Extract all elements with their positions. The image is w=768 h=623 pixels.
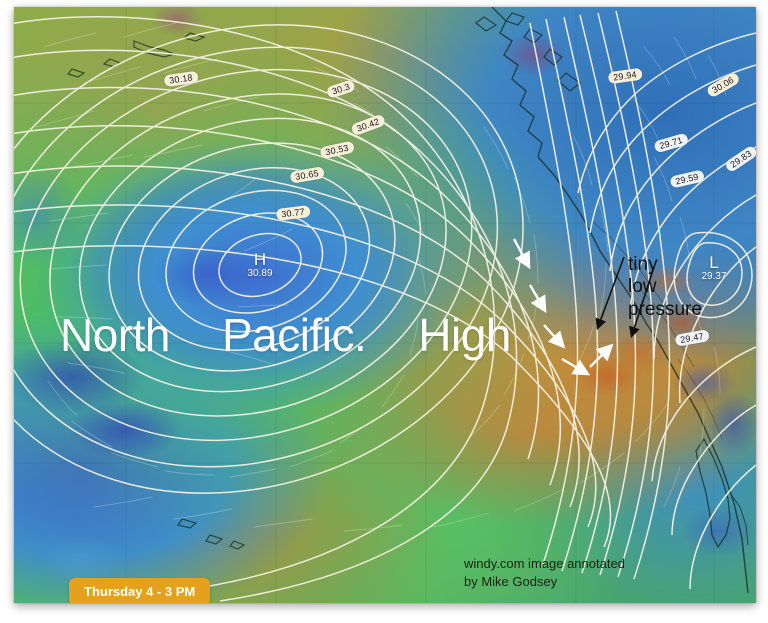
page-root: 30.1830.330.4230.5330.6530.7729.9430.062…: [0, 0, 768, 623]
annotation-line-2: low: [628, 276, 738, 298]
pressure-center-value: 30.89: [247, 269, 272, 279]
weather-map[interactable]: 30.1830.330.4230.5330.6530.7729.9430.062…: [14, 7, 756, 603]
tiny-low-pressure-annotation: tiny low pressure: [628, 254, 738, 321]
forecast-time-badge[interactable]: Thursday 4 - 3 PM: [69, 578, 210, 603]
annotation-line-3: pressure: [628, 299, 738, 321]
credit-line-1: windy.com image annotated: [464, 555, 625, 573]
image-credit: windy.com image annotated by Mike Godsey: [464, 555, 625, 590]
credit-line-2: by Mike Godsey: [464, 573, 625, 591]
high-pressure-center: H30.89: [247, 251, 272, 279]
weather-map-frame: 30.1830.330.4230.5330.6530.7729.9430.062…: [14, 7, 756, 603]
annotation-line-1: tiny: [628, 254, 738, 276]
pressure-center-symbol: H: [247, 251, 272, 268]
